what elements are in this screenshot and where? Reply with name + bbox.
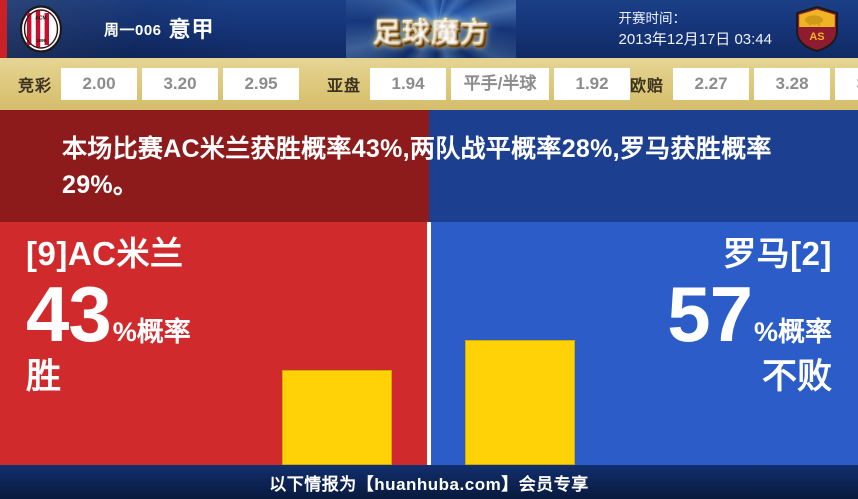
site-logo[interactable]: 足球魔方 — [346, 0, 516, 58]
away-probability-row: 57%概率 — [667, 275, 832, 353]
footer-bar: 以下情报为【huanhuba.com】会员专享 — [0, 465, 858, 499]
odds-group-label: 亚盘 — [327, 72, 361, 96]
round-number: 周一006 — [104, 22, 162, 39]
odds-cell[interactable]: 2.27 — [673, 68, 749, 100]
away-team-info: 罗马[2] 57%概率 不败 — [667, 236, 832, 396]
svg-text:1899: 1899 — [36, 38, 47, 43]
odds-group-label: 竞彩 — [18, 72, 52, 96]
home-team-panel: [9]AC米兰 43%概率 胜 — [0, 222, 427, 465]
odds-group-jingcai: 竞彩 2.00 3.20 2.95 — [0, 58, 299, 110]
as-roma-crest-icon: AS — [794, 5, 840, 53]
away-probability-unit: %概率 — [754, 317, 832, 347]
home-team-info: [9]AC米兰 43%概率 胜 — [26, 236, 191, 396]
svg-text:AS: AS — [809, 31, 824, 43]
league-name: 意甲 — [169, 17, 215, 42]
odds-cell[interactable]: 3.20 — [142, 68, 218, 100]
odds-cell[interactable]: 3.28 — [754, 68, 830, 100]
away-outcome-label: 不败 — [667, 359, 832, 396]
header-bar: ACM 1899 周一006意甲 足球魔方 开赛时间： 2013年12月17日 … — [0, 0, 858, 58]
league-info: 周一006意甲 — [104, 12, 215, 44]
prediction-banner: 本场比赛AC米兰获胜概率43%,两队战平概率28%,罗马获胜概率29%。 — [0, 110, 858, 222]
svg-text:ACM: ACM — [35, 16, 46, 22]
home-probability-bar — [282, 370, 392, 465]
odds-cell[interactable]: 2.00 — [61, 68, 137, 100]
odds-cell[interactable]: 1.94 — [370, 68, 446, 100]
away-team-name: 罗马[2] — [667, 236, 832, 273]
kickoff-time: 开赛时间： 2013年12月17日 03:44 — [619, 9, 772, 50]
odds-group-oupei: 欧赔 2.27 3.28 3.06 — [630, 58, 858, 110]
footer-text: 以下情报为【huanhuba.com】会员专享 — [269, 470, 588, 495]
match-prediction-infographic: ACM 1899 周一006意甲 足球魔方 开赛时间： 2013年12月17日 … — [0, 0, 858, 499]
odds-group-yapan: 亚盘 1.94 平手/半球 1.92 — [299, 58, 630, 110]
odds-group-label: 欧赔 — [630, 72, 664, 96]
odds-cell[interactable]: 3.06 — [835, 68, 858, 100]
odds-bar: 竞彩 2.00 3.20 2.95 亚盘 1.94 平手/半球 1.92 欧赔 … — [0, 58, 858, 110]
site-logo-text: 足球魔方 — [346, 11, 516, 51]
home-probability-row: 43%概率 — [26, 275, 191, 353]
odds-cell[interactable]: 1.92 — [554, 68, 630, 100]
header-accent-stripe — [0, 0, 7, 58]
odds-cell[interactable]: 2.95 — [223, 68, 299, 100]
kickoff-label: 开赛时间： — [619, 9, 772, 29]
prediction-text: 本场比赛AC米兰获胜概率43%,两队战平概率28%,罗马获胜概率29%。 — [62, 132, 802, 203]
home-probability-value: 43 — [26, 270, 111, 358]
away-probability-value: 57 — [667, 270, 752, 358]
probability-panels: [9]AC米兰 43%概率 胜 罗马[2] 57%概率 不败 — [0, 222, 858, 465]
home-team-name: [9]AC米兰 — [26, 236, 191, 273]
home-probability-unit: %概率 — [113, 317, 191, 347]
away-probability-bar — [465, 340, 575, 465]
kickoff-value: 2013年12月17日 03:44 — [619, 29, 772, 51]
away-team-panel: 罗马[2] 57%概率 不败 — [431, 222, 858, 465]
home-outcome-label: 胜 — [26, 359, 191, 396]
ac-milan-crest-icon: ACM 1899 — [18, 5, 64, 53]
odds-cell-handicap[interactable]: 平手/半球 — [451, 68, 549, 100]
